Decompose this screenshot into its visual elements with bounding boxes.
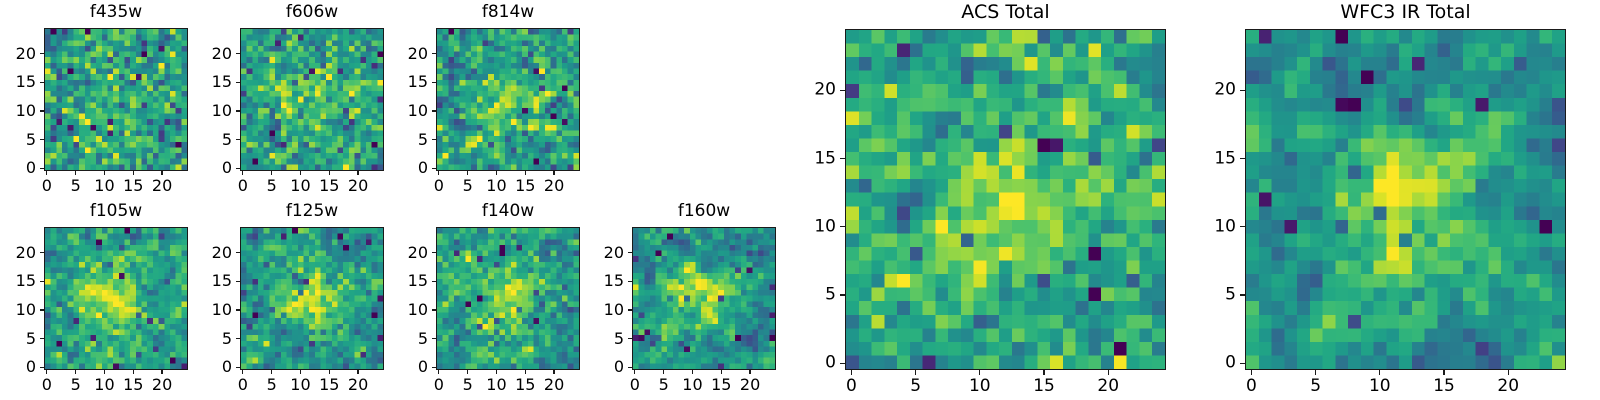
y-tick bbox=[628, 252, 632, 253]
heatmap-image-acs-total bbox=[845, 29, 1166, 370]
panel-title: f160w bbox=[632, 203, 776, 220]
y-tick-label: 0 bbox=[0, 359, 36, 375]
x-tick-label: 5 bbox=[910, 378, 921, 395]
y-tick bbox=[1240, 294, 1245, 295]
heatmap-image-f105w bbox=[44, 227, 188, 370]
y-tick-label: 0 bbox=[785, 355, 836, 372]
x-tick-label: 0 bbox=[846, 378, 857, 395]
y-tick bbox=[432, 309, 436, 310]
x-tick-label: 0 bbox=[42, 377, 52, 393]
x-tick-label: 0 bbox=[434, 377, 444, 393]
x-tick bbox=[721, 370, 722, 374]
x-tick-label: 15 bbox=[319, 377, 339, 393]
y-tick bbox=[628, 309, 632, 310]
x-tick-label: 10 bbox=[682, 377, 702, 393]
y-tick bbox=[40, 281, 44, 282]
y-tick bbox=[1240, 363, 1245, 364]
y-tick-label: 5 bbox=[1185, 286, 1236, 303]
y-tick bbox=[432, 281, 436, 282]
x-tick bbox=[749, 370, 750, 374]
y-tick-label: 10 bbox=[1185, 218, 1236, 235]
panel-title: WFC3 IR Total bbox=[1245, 3, 1566, 22]
y-tick bbox=[236, 281, 240, 282]
y-tick-label: 15 bbox=[0, 273, 36, 289]
x-tick bbox=[1508, 370, 1509, 375]
panel-title: f140w bbox=[436, 203, 580, 220]
y-tick-label: 10 bbox=[785, 218, 836, 235]
y-tick bbox=[432, 338, 436, 339]
y-tick-label: 5 bbox=[180, 331, 232, 347]
y-tick bbox=[40, 338, 44, 339]
y-tick-label: 20 bbox=[785, 82, 836, 99]
y-tick bbox=[840, 158, 845, 159]
y-tick-label: 20 bbox=[572, 245, 624, 261]
y-tick-label: 20 bbox=[180, 245, 232, 261]
x-tick bbox=[1443, 370, 1444, 375]
panel-acs-total: ACS Total0510152005101520 bbox=[785, 0, 1226, 400]
x-tick bbox=[438, 370, 439, 374]
y-tick bbox=[628, 281, 632, 282]
x-tick bbox=[46, 370, 47, 374]
x-tick bbox=[271, 370, 272, 374]
x-tick-label: 10 bbox=[1369, 378, 1391, 395]
y-tick-label: 10 bbox=[572, 302, 624, 318]
y-tick bbox=[432, 367, 436, 368]
x-tick bbox=[161, 370, 162, 374]
panel-title: f125w bbox=[240, 203, 384, 220]
x-tick-label: 0 bbox=[1246, 378, 1257, 395]
x-tick-label: 10 bbox=[969, 378, 991, 395]
y-tick-label: 5 bbox=[0, 331, 36, 347]
x-tick bbox=[634, 370, 635, 374]
x-tick-label: 5 bbox=[267, 377, 277, 393]
y-tick-label: 5 bbox=[572, 331, 624, 347]
panel-title: f105w bbox=[44, 203, 188, 220]
y-tick-label: 0 bbox=[572, 359, 624, 375]
y-tick-label: 20 bbox=[1185, 82, 1236, 99]
x-tick bbox=[1043, 370, 1044, 375]
y-tick bbox=[1240, 158, 1245, 159]
y-tick-label: 20 bbox=[0, 245, 36, 261]
y-tick-label: 5 bbox=[376, 331, 428, 347]
heatmap-image-f160w bbox=[632, 227, 776, 370]
x-tick bbox=[915, 370, 916, 375]
y-tick-label: 15 bbox=[180, 273, 232, 289]
y-tick bbox=[1240, 226, 1245, 227]
x-tick-label: 15 bbox=[515, 377, 535, 393]
x-tick bbox=[1379, 370, 1380, 375]
x-tick-label: 20 bbox=[348, 377, 368, 393]
figure-canvas: f435w0510152005101520f606w05101520051015… bbox=[0, 0, 1600, 400]
x-tick bbox=[300, 370, 301, 374]
heatmap-image-f125w bbox=[240, 227, 384, 370]
y-tick bbox=[840, 90, 845, 91]
x-tick-label: 5 bbox=[463, 377, 473, 393]
y-tick bbox=[840, 294, 845, 295]
x-tick bbox=[133, 370, 134, 374]
y-tick bbox=[840, 226, 845, 227]
y-tick-label: 20 bbox=[376, 245, 428, 261]
x-tick bbox=[851, 370, 852, 375]
x-tick-label: 20 bbox=[740, 377, 760, 393]
x-tick bbox=[329, 370, 330, 374]
y-tick-label: 0 bbox=[376, 359, 428, 375]
panel-wfc3-ir-total: WFC3 IR Total0510152005101520 bbox=[1185, 0, 1600, 400]
x-tick bbox=[1315, 370, 1316, 375]
y-tick-label: 10 bbox=[376, 302, 428, 318]
y-tick-label: 15 bbox=[572, 273, 624, 289]
x-tick-label: 5 bbox=[659, 377, 669, 393]
y-tick bbox=[236, 309, 240, 310]
y-tick bbox=[1240, 90, 1245, 91]
x-tick-label: 15 bbox=[1433, 378, 1455, 395]
x-tick bbox=[1251, 370, 1252, 375]
x-tick-label: 20 bbox=[152, 377, 172, 393]
y-tick bbox=[40, 309, 44, 310]
x-tick bbox=[357, 370, 358, 374]
x-tick-label: 10 bbox=[94, 377, 114, 393]
x-tick-label: 5 bbox=[1310, 378, 1321, 395]
y-tick-label: 15 bbox=[376, 273, 428, 289]
x-tick-label: 15 bbox=[1033, 378, 1055, 395]
heatmap-image-wfc3-ir-total bbox=[1245, 29, 1566, 370]
x-tick bbox=[525, 370, 526, 374]
y-tick bbox=[628, 338, 632, 339]
x-tick-label: 15 bbox=[711, 377, 731, 393]
x-tick bbox=[663, 370, 664, 374]
y-tick-label: 10 bbox=[180, 302, 232, 318]
heatmap-image-f140w bbox=[436, 227, 580, 370]
x-tick-label: 0 bbox=[238, 377, 248, 393]
y-tick-label: 5 bbox=[785, 286, 836, 303]
x-tick bbox=[467, 370, 468, 374]
x-tick bbox=[496, 370, 497, 374]
x-tick-label: 10 bbox=[290, 377, 310, 393]
y-tick bbox=[432, 252, 436, 253]
y-tick-label: 0 bbox=[1185, 355, 1236, 372]
y-tick bbox=[236, 367, 240, 368]
x-tick bbox=[553, 370, 554, 374]
x-tick bbox=[692, 370, 693, 374]
x-tick-label: 20 bbox=[1497, 378, 1519, 395]
y-tick-label: 0 bbox=[180, 359, 232, 375]
y-tick bbox=[236, 252, 240, 253]
x-tick-label: 0 bbox=[630, 377, 640, 393]
x-tick-label: 10 bbox=[486, 377, 506, 393]
y-tick bbox=[236, 338, 240, 339]
x-tick bbox=[104, 370, 105, 374]
x-tick bbox=[75, 370, 76, 374]
y-tick-label: 15 bbox=[1185, 150, 1236, 167]
y-tick bbox=[40, 252, 44, 253]
x-tick bbox=[242, 370, 243, 374]
y-tick-label: 10 bbox=[0, 302, 36, 318]
y-tick-label: 15 bbox=[785, 150, 836, 167]
x-tick-label: 5 bbox=[71, 377, 81, 393]
x-tick-label: 15 bbox=[123, 377, 143, 393]
panel-title: ACS Total bbox=[845, 3, 1166, 22]
y-tick bbox=[840, 363, 845, 364]
x-tick bbox=[1108, 370, 1109, 375]
x-tick-label: 20 bbox=[544, 377, 564, 393]
y-tick bbox=[628, 367, 632, 368]
x-tick bbox=[979, 370, 980, 375]
y-tick bbox=[40, 367, 44, 368]
x-tick-label: 20 bbox=[1097, 378, 1119, 395]
